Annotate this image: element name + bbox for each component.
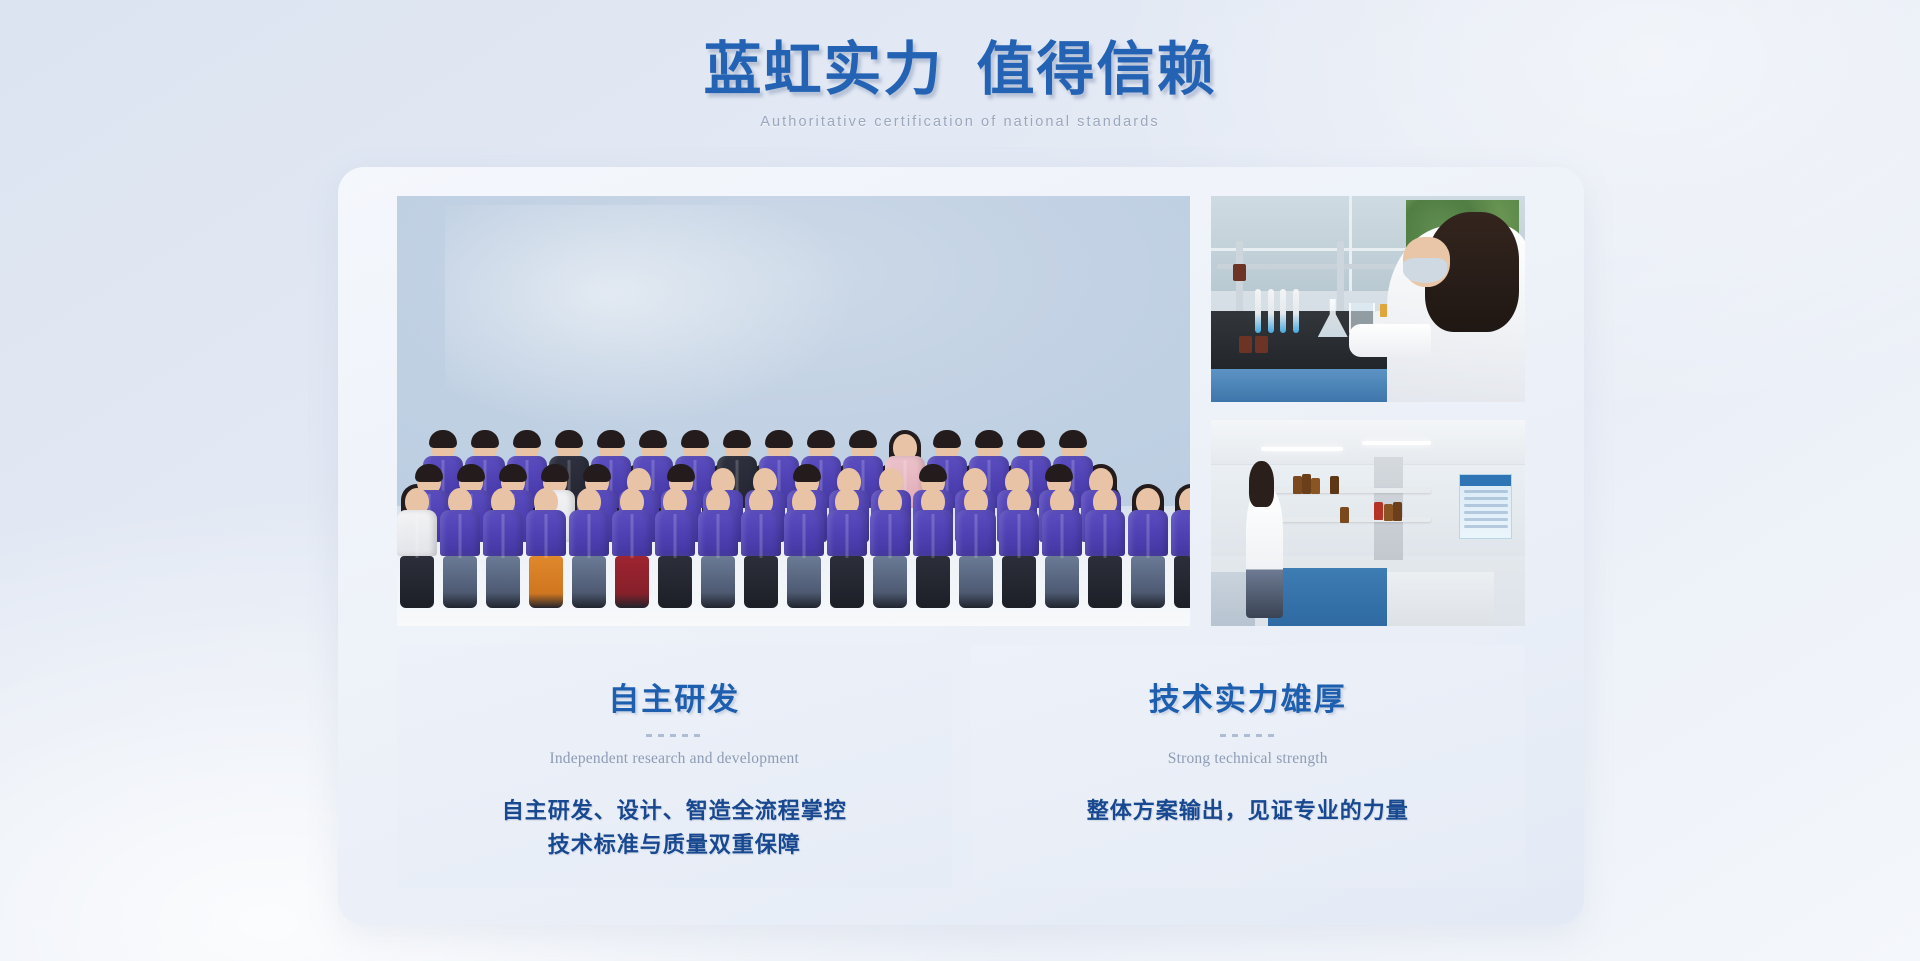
card-body-line-2: 技术标准与质量双重保障 bbox=[397, 828, 952, 862]
page-title: 蓝虹实力 值得信赖 bbox=[0, 36, 1920, 104]
lab-photo-pipetting bbox=[1211, 196, 1525, 402]
dashed-divider bbox=[646, 734, 702, 737]
feature-card-strength: 技术实力雄厚 Strong technical strength 整体方案输出，… bbox=[971, 645, 1526, 888]
lab-photo-room bbox=[1211, 420, 1525, 626]
card-body: 整体方案输出，见证专业的力量 bbox=[971, 794, 1526, 828]
card-subtitle-en: Strong technical strength bbox=[971, 750, 1526, 768]
team-photo bbox=[397, 196, 1190, 626]
card-body-line-1: 自主研发、设计、智造全流程掌控 bbox=[397, 794, 952, 828]
dashed-divider bbox=[1220, 734, 1276, 737]
content-panel: 自主研发 Independent research and developmen… bbox=[338, 167, 1584, 925]
card-title: 自主研发 bbox=[397, 674, 952, 719]
card-title: 技术实力雄厚 bbox=[971, 674, 1526, 719]
feature-card-rnd: 自主研发 Independent research and developmen… bbox=[397, 645, 952, 888]
feature-cards: 自主研发 Independent research and developmen… bbox=[397, 645, 1525, 888]
card-subtitle-en: Independent research and development bbox=[397, 750, 952, 768]
page-subtitle: Authoritative certification of national … bbox=[0, 114, 1920, 130]
page-header: 蓝虹实力 值得信赖 Authoritative certification of… bbox=[0, 36, 1920, 130]
media-grid bbox=[397, 196, 1525, 626]
lab-wall-poster bbox=[1459, 474, 1512, 540]
page-root: 蓝虹实力 值得信赖 Authoritative certification of… bbox=[0, 0, 1920, 961]
lab-photo-column bbox=[1211, 196, 1525, 626]
card-body-line-1: 整体方案输出，见证专业的力量 bbox=[971, 794, 1526, 828]
card-body: 自主研发、设计、智造全流程掌控 技术标准与质量双重保障 bbox=[397, 794, 952, 862]
